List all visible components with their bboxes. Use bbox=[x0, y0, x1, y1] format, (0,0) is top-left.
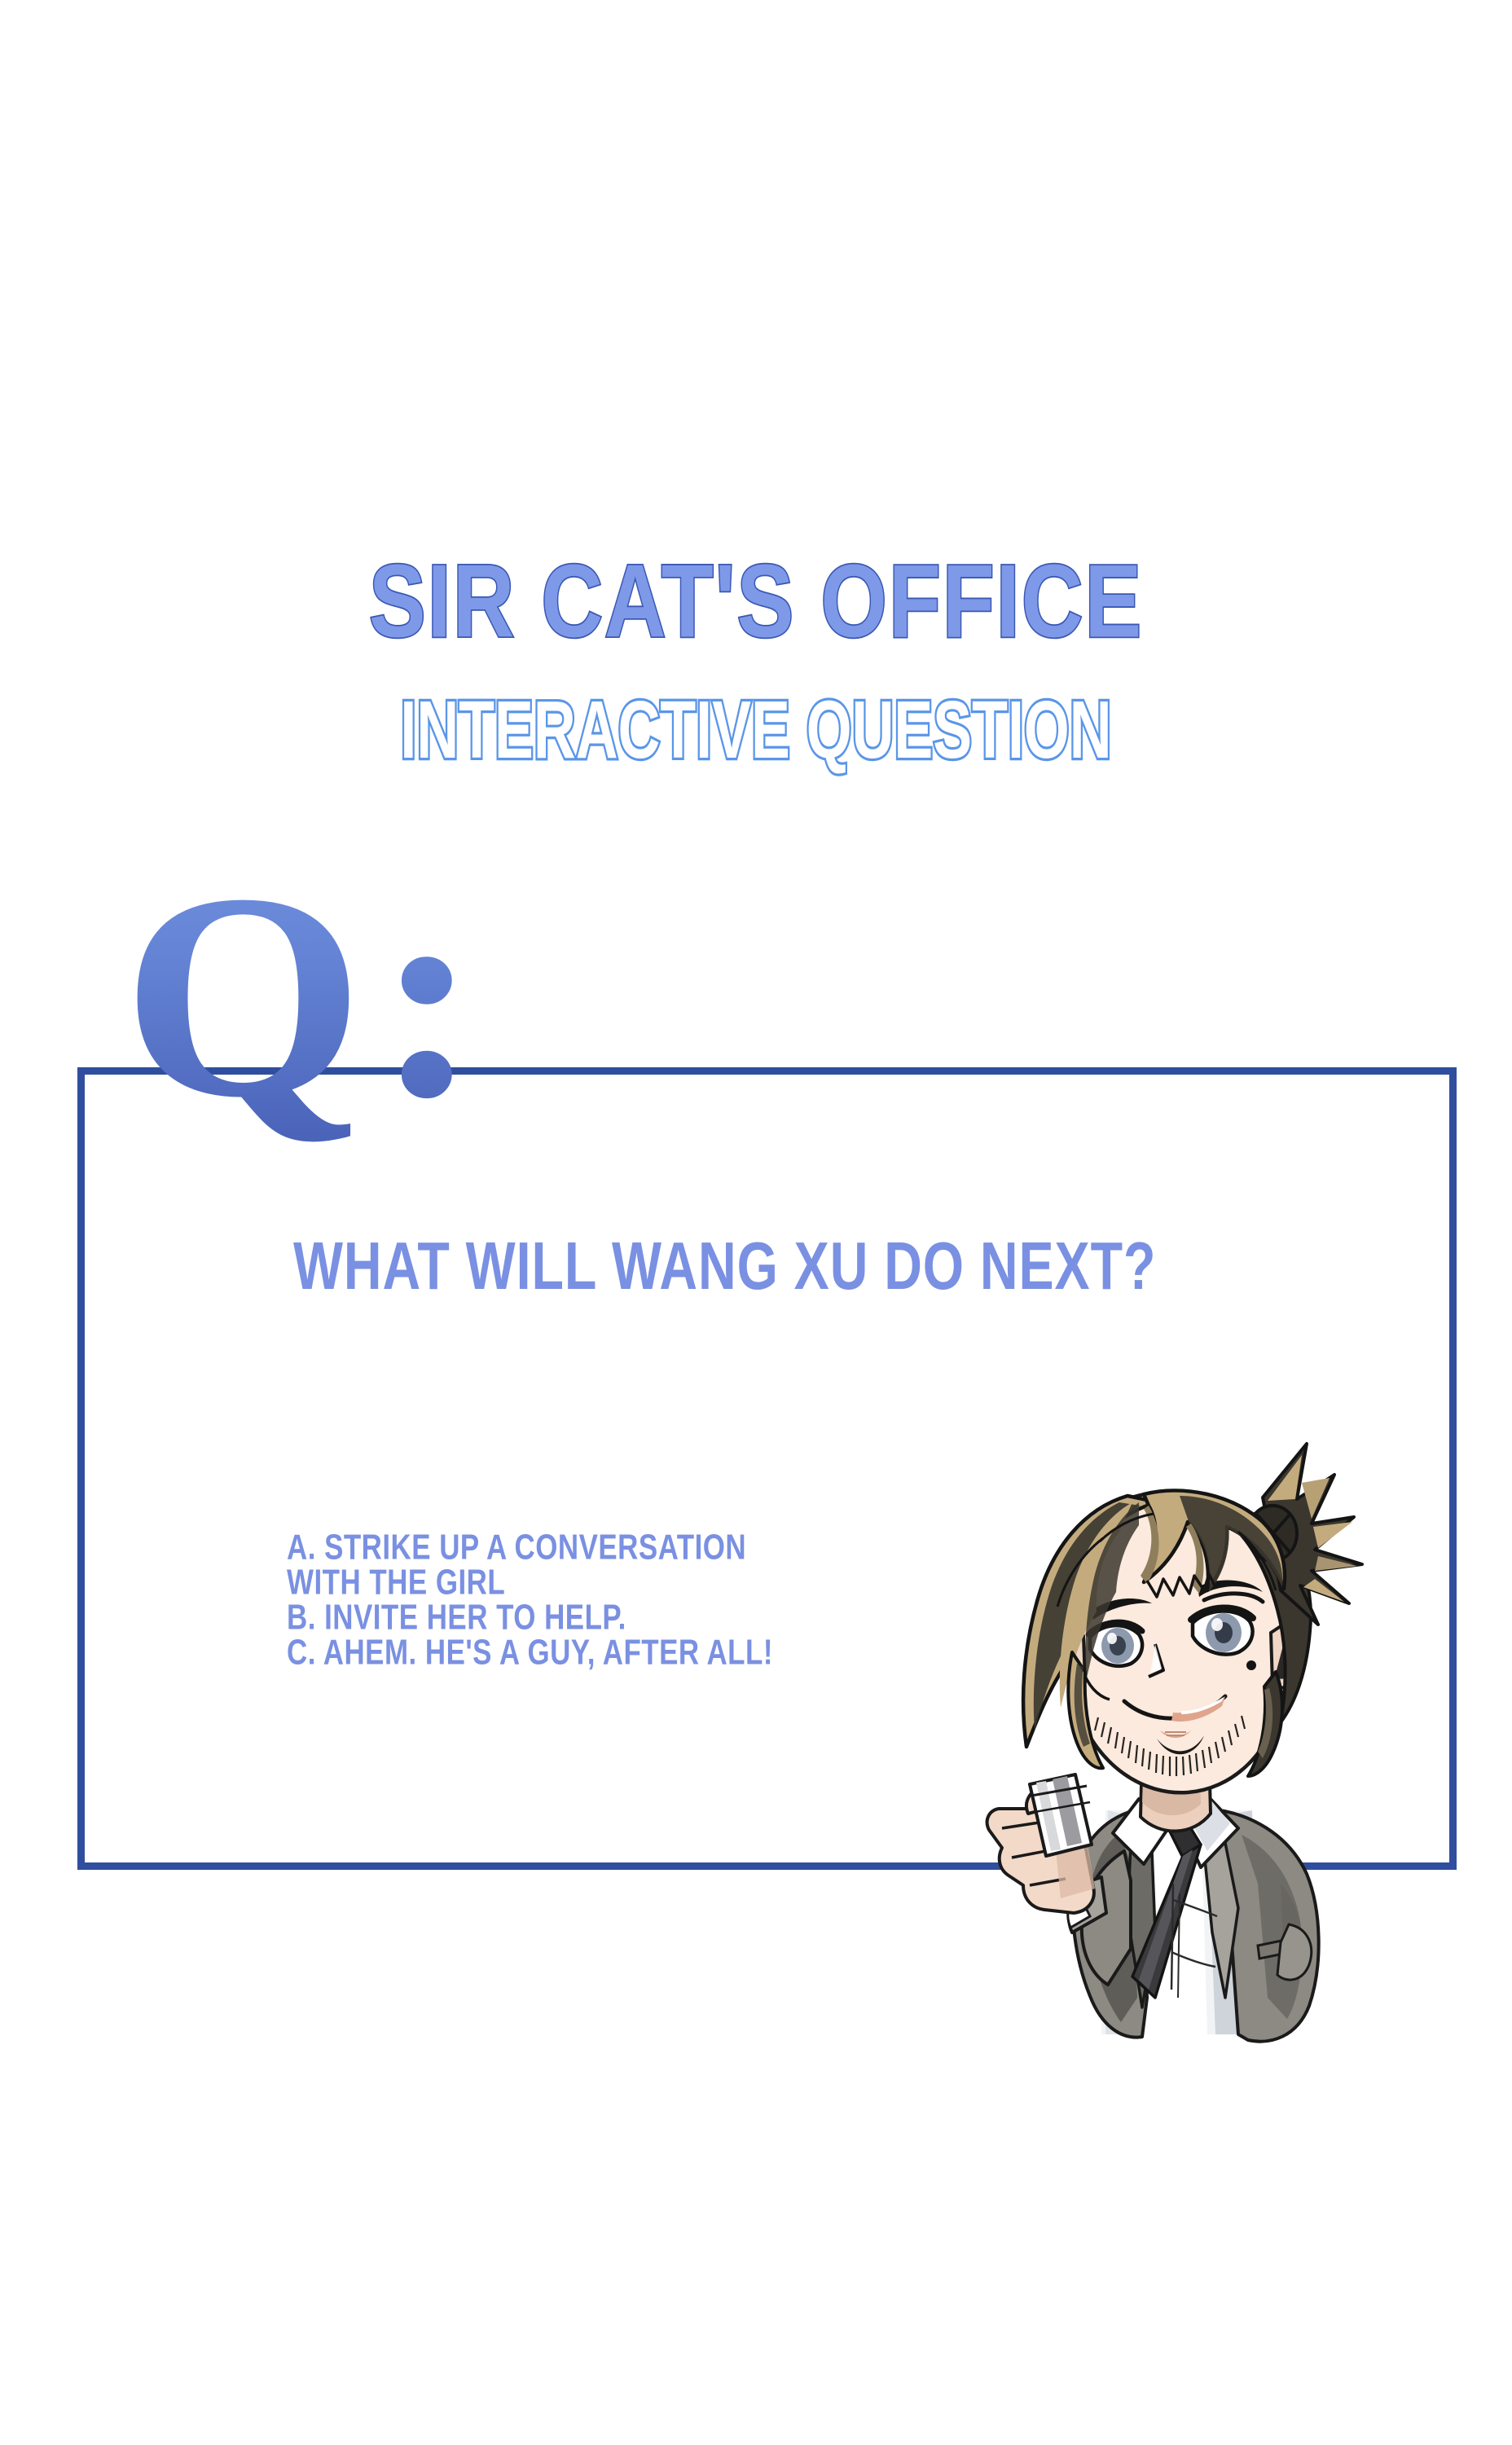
page-title: SIR CAT'S OFFICE bbox=[23, 547, 1489, 655]
question-panel bbox=[77, 1067, 1457, 1870]
page-subtitle: INTERACTIVE QUESTION bbox=[60, 688, 1452, 771]
answer-options-list: A. STRIKE UP A CONVERSATION WITH THE GIR… bbox=[287, 1525, 788, 1665]
question-marker: Q: bbox=[122, 849, 492, 1142]
header-title-block: SIR CAT'S OFFICE INTERACTIVE QUESTION bbox=[0, 547, 1512, 753]
question-text: WHAT WILL WANG XU DO NEXT? bbox=[293, 1230, 1156, 1302]
answer-option-c[interactable]: C. AHEM. HE'S A GUY, AFTER ALL! bbox=[287, 1630, 773, 1673]
